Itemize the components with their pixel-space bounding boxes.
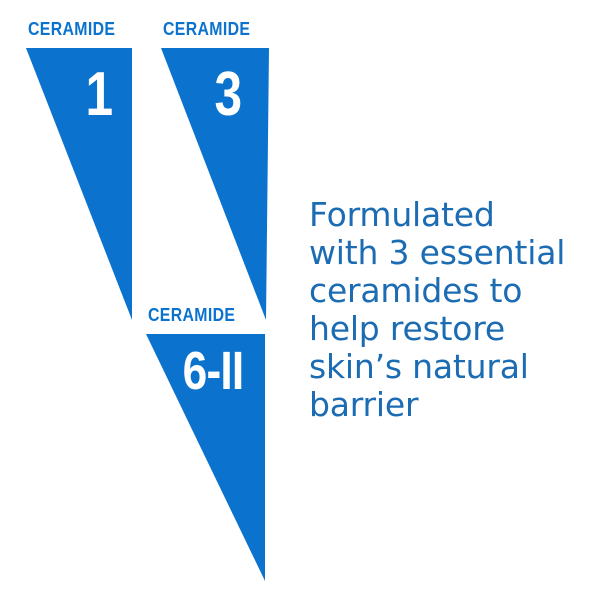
ceramide-pennant-6-ii: CERAMIDE 6-II bbox=[146, 306, 286, 596]
ceramide-pennant-1: CERAMIDE 1 bbox=[26, 20, 166, 310]
ceramide-pennant-3: CERAMIDE 3 bbox=[161, 20, 301, 310]
ceramide-label: CERAMIDE bbox=[148, 306, 235, 324]
downward-triangle-pennant-icon bbox=[26, 48, 132, 320]
copy-line: help restore bbox=[309, 310, 585, 348]
copy-line: with 3 essential bbox=[309, 234, 585, 272]
copy-line: barrier bbox=[309, 386, 585, 424]
ceramide-number: 3 bbox=[214, 64, 242, 126]
marketing-copy: Formulated with 3 essential ceramides to… bbox=[309, 196, 585, 424]
copy-line: ceramides to bbox=[309, 272, 585, 310]
infographic-canvas: CERAMIDE 1 CERAMIDE 3 CERAMIDE 6-II Form… bbox=[0, 0, 600, 600]
ceramide-number: 6-II bbox=[183, 344, 244, 398]
ceramide-label: CERAMIDE bbox=[163, 20, 250, 38]
copy-line: Formulated bbox=[309, 196, 585, 234]
copy-line: skin’s natural bbox=[309, 348, 585, 386]
ceramide-number: 1 bbox=[85, 64, 113, 126]
ceramide-label: CERAMIDE bbox=[28, 20, 115, 38]
